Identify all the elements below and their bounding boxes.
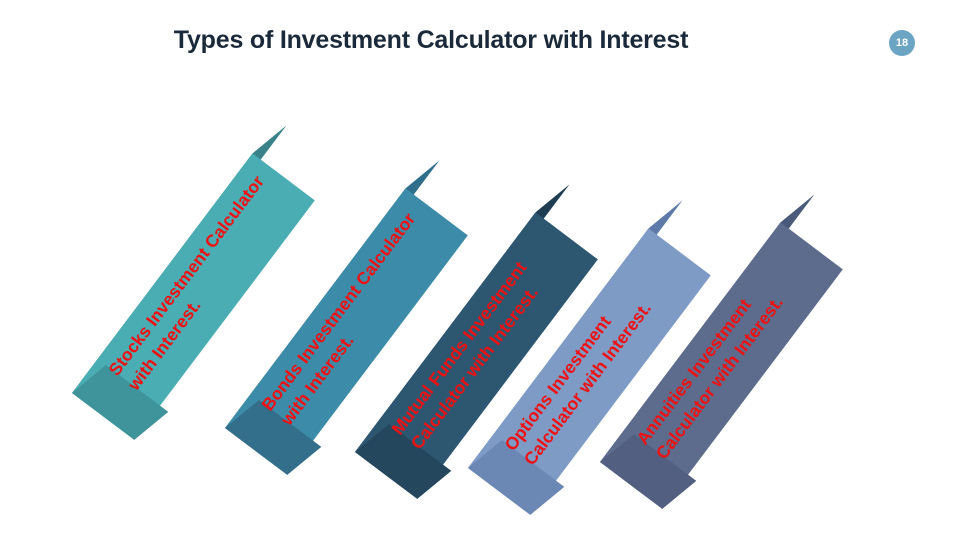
slide-canvas: Types of Investment Calculator with Inte… [0,0,975,549]
investment-calculator-diagram: Stocks Investment Calculatorwith Interes… [0,0,975,549]
